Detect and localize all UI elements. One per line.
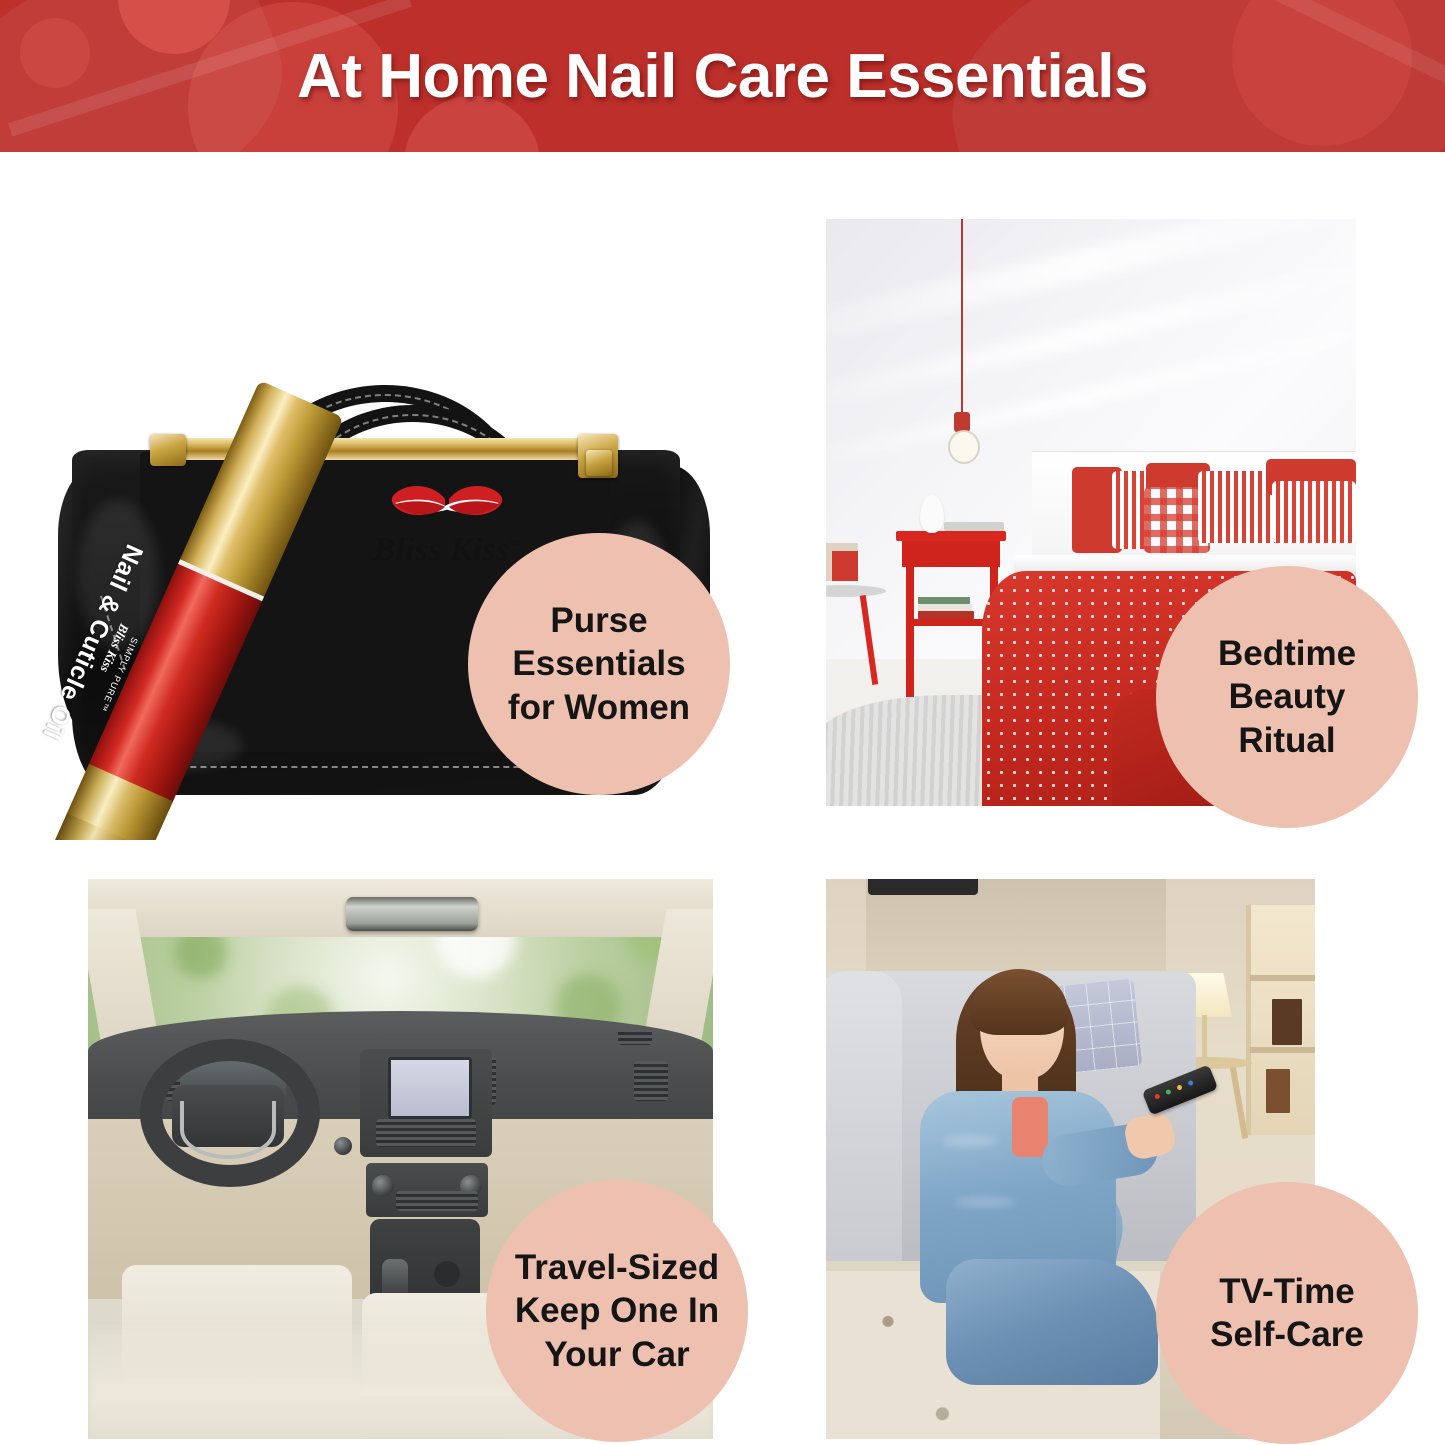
header-banner: At Home Nail Care Essentials bbox=[0, 0, 1445, 152]
pendant-cord bbox=[961, 219, 963, 416]
nightstand-top bbox=[896, 531, 1006, 541]
badge-line: Bedtime bbox=[1212, 632, 1362, 675]
rearview-mirror bbox=[346, 897, 478, 931]
infotainment-screen bbox=[388, 1057, 472, 1119]
defrost-vent bbox=[618, 1029, 652, 1045]
badge-line: TV-Time bbox=[1204, 1270, 1370, 1313]
page-title: At Home Nail Care Essentials bbox=[0, 0, 1445, 152]
book-stack-red bbox=[918, 611, 974, 619]
deer-vase bbox=[920, 495, 944, 533]
climate-knob-left bbox=[372, 1175, 394, 1197]
pendant-socket bbox=[954, 412, 970, 432]
badge-line: Ritual bbox=[1212, 719, 1362, 762]
bag-gloss-1 bbox=[78, 500, 158, 650]
bag-stitch-bottom bbox=[150, 766, 580, 768]
nightstand-drawer bbox=[902, 541, 1000, 567]
wall-tv bbox=[868, 879, 978, 895]
shelf-books bbox=[1272, 999, 1302, 1045]
shirt-fold-2 bbox=[954, 1197, 1016, 1207]
badge-line: Self-Care bbox=[1204, 1313, 1370, 1356]
badge-line: Your Car bbox=[509, 1333, 725, 1376]
jeans-lower bbox=[946, 1259, 1158, 1385]
inner-top bbox=[1012, 1097, 1048, 1157]
badge-line: for Women bbox=[502, 686, 696, 729]
badge-line: Keep One In bbox=[509, 1289, 725, 1332]
sofa-arm bbox=[826, 971, 902, 1271]
console-cupholder bbox=[434, 1261, 460, 1287]
badge-bedtime-ritual: Bedtime Beauty Ritual bbox=[1156, 566, 1418, 828]
climate-buttons bbox=[396, 1191, 478, 1211]
shelf-books bbox=[1266, 1069, 1290, 1113]
remote-button-red bbox=[1154, 1093, 1161, 1100]
gift-box-red bbox=[832, 551, 858, 581]
shelf-board bbox=[1250, 1047, 1315, 1053]
bag-clasp-left bbox=[150, 434, 186, 466]
steering-wheel-chrome-trim bbox=[180, 1101, 276, 1159]
tray-on-nightstand bbox=[944, 522, 1004, 531]
remote-button-yellow bbox=[1176, 1084, 1183, 1091]
shelf-board bbox=[1250, 975, 1315, 981]
badge-line: Beauty bbox=[1212, 675, 1362, 718]
table-lamp-stem bbox=[1202, 1015, 1207, 1061]
air-vent-right bbox=[634, 1061, 668, 1101]
pendant-bulb-icon bbox=[948, 430, 980, 464]
badge-line: Travel-Sized bbox=[509, 1246, 725, 1289]
remote-button-green bbox=[1165, 1089, 1172, 1096]
book-stack-white bbox=[918, 604, 972, 611]
nightstand-leg bbox=[906, 567, 914, 697]
bag-metal-frame bbox=[158, 438, 598, 460]
bag-lock bbox=[586, 450, 612, 476]
badge-line: Purse bbox=[502, 599, 696, 642]
pillow-striped-far bbox=[1272, 481, 1356, 543]
badge-travel-sized: Travel-Sized Keep One In Your Car bbox=[486, 1180, 748, 1442]
lips-icon bbox=[389, 480, 505, 528]
remote-button-blue bbox=[1187, 1080, 1194, 1087]
radio-buttons bbox=[376, 1119, 476, 1147]
badge-line: Essentials bbox=[502, 642, 696, 685]
badge-purse-essentials: Purse Essentials for Women bbox=[468, 533, 730, 795]
start-button bbox=[334, 1137, 352, 1155]
shirt-fold-1 bbox=[942, 1135, 998, 1147]
book-stack-green bbox=[918, 597, 970, 604]
badge-tv-time: TV-Time Self-Care bbox=[1156, 1182, 1418, 1444]
